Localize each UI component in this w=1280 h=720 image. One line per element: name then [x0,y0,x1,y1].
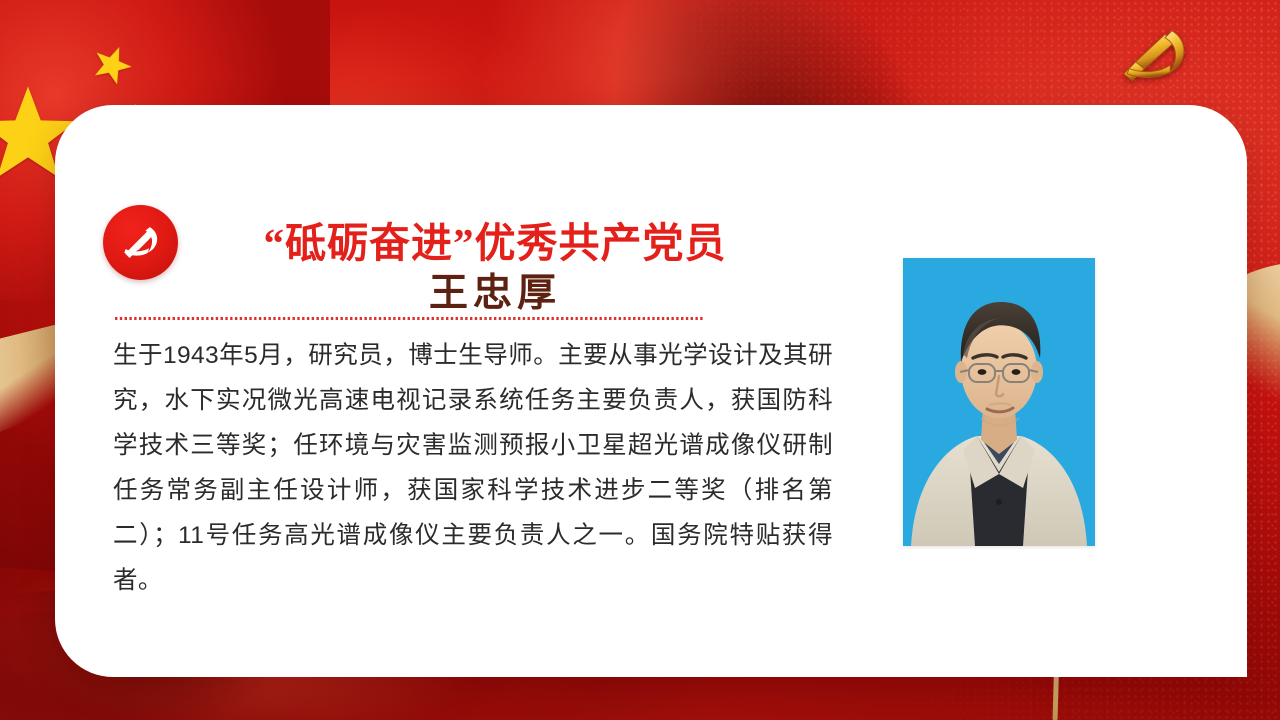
person-name: 王忠厚 [205,262,785,318]
portrait-photo [903,258,1095,546]
hammer-and-sickle-icon [103,205,178,280]
slide-canvas: “砥砺奋进”优秀共产党员 王忠厚 生于1943年5月，研究员，博士生导师。主要从… [0,0,1280,720]
biography-text: 生于1943年5月，研究员，博士生导师。主要从事光学设计及其研究，水下实况微光高… [113,333,833,603]
dotted-divider [115,317,705,320]
gold-hammer-and-sickle-icon [1110,24,1196,86]
content-card: “砥砺奋进”优秀共产党员 王忠厚 生于1943年5月，研究员，博士生导师。主要从… [55,105,1247,677]
page-title: “砥砺奋进”优秀共产党员 [205,209,785,269]
